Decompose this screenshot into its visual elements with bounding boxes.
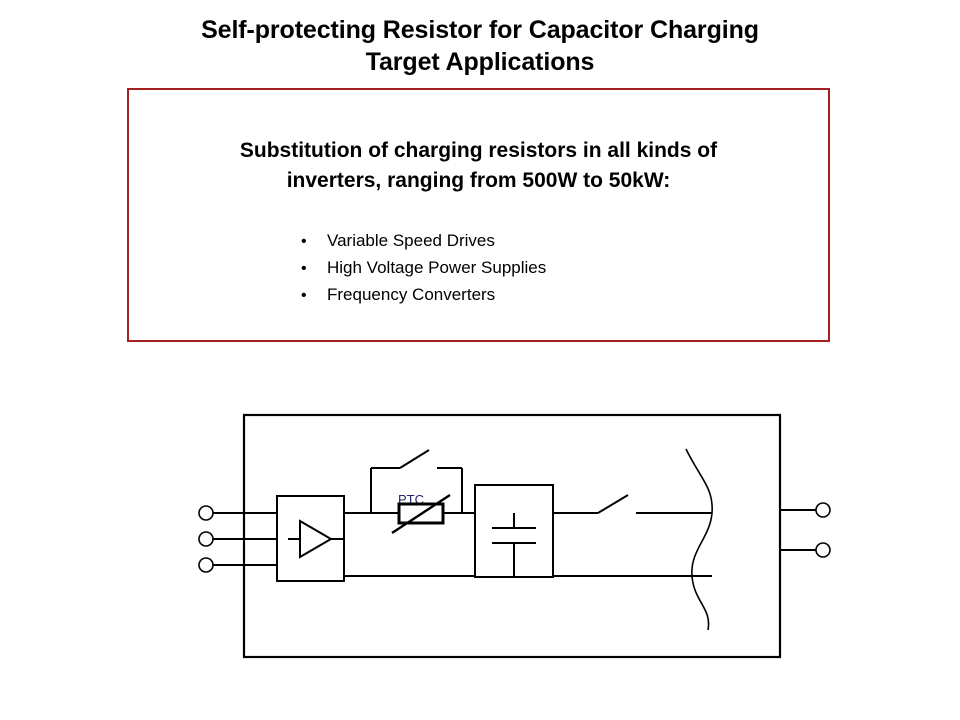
bullet-icon: • <box>301 256 327 282</box>
page-title-line-2: Target Applications <box>60 46 900 78</box>
input-terminal <box>199 558 213 572</box>
list-item-label: High Voltage Power Supplies <box>327 258 546 277</box>
input-terminal <box>199 532 213 546</box>
list-item: •High Voltage Power Supplies <box>301 255 546 282</box>
break-line-icon <box>686 449 712 630</box>
output-terminal <box>816 543 830 557</box>
list-item: •Frequency Converters <box>301 282 546 309</box>
page-title: Self-protecting Resistor for Capacitor C… <box>60 14 900 78</box>
callout-heading-line-1: Substitution of charging resistors in al… <box>129 136 828 166</box>
callout-heading-line-2: inverters, ranging from 500W to 50kW: <box>129 166 828 196</box>
circuit-diagram: PTC <box>0 380 960 680</box>
page-title-line-1: Self-protecting Resistor for Capacitor C… <box>60 14 900 46</box>
rectifier-triangle-icon <box>300 521 331 557</box>
bypass-switch-blade-icon <box>400 450 429 468</box>
list-item-label: Frequency Converters <box>327 285 495 304</box>
callout-box: Substitution of charging resistors in al… <box>127 88 830 342</box>
list-item-label: Variable Speed Drives <box>327 231 495 250</box>
input-terminal <box>199 506 213 520</box>
callout-heading: Substitution of charging resistors in al… <box>129 136 828 197</box>
list-item: •Variable Speed Drives <box>301 228 546 255</box>
output-terminal <box>816 503 830 517</box>
load-switch-blade-icon <box>598 495 628 513</box>
bullet-icon: • <box>301 283 327 309</box>
bullet-icon: • <box>301 229 327 255</box>
application-list: •Variable Speed Drives •High Voltage Pow… <box>301 228 546 309</box>
